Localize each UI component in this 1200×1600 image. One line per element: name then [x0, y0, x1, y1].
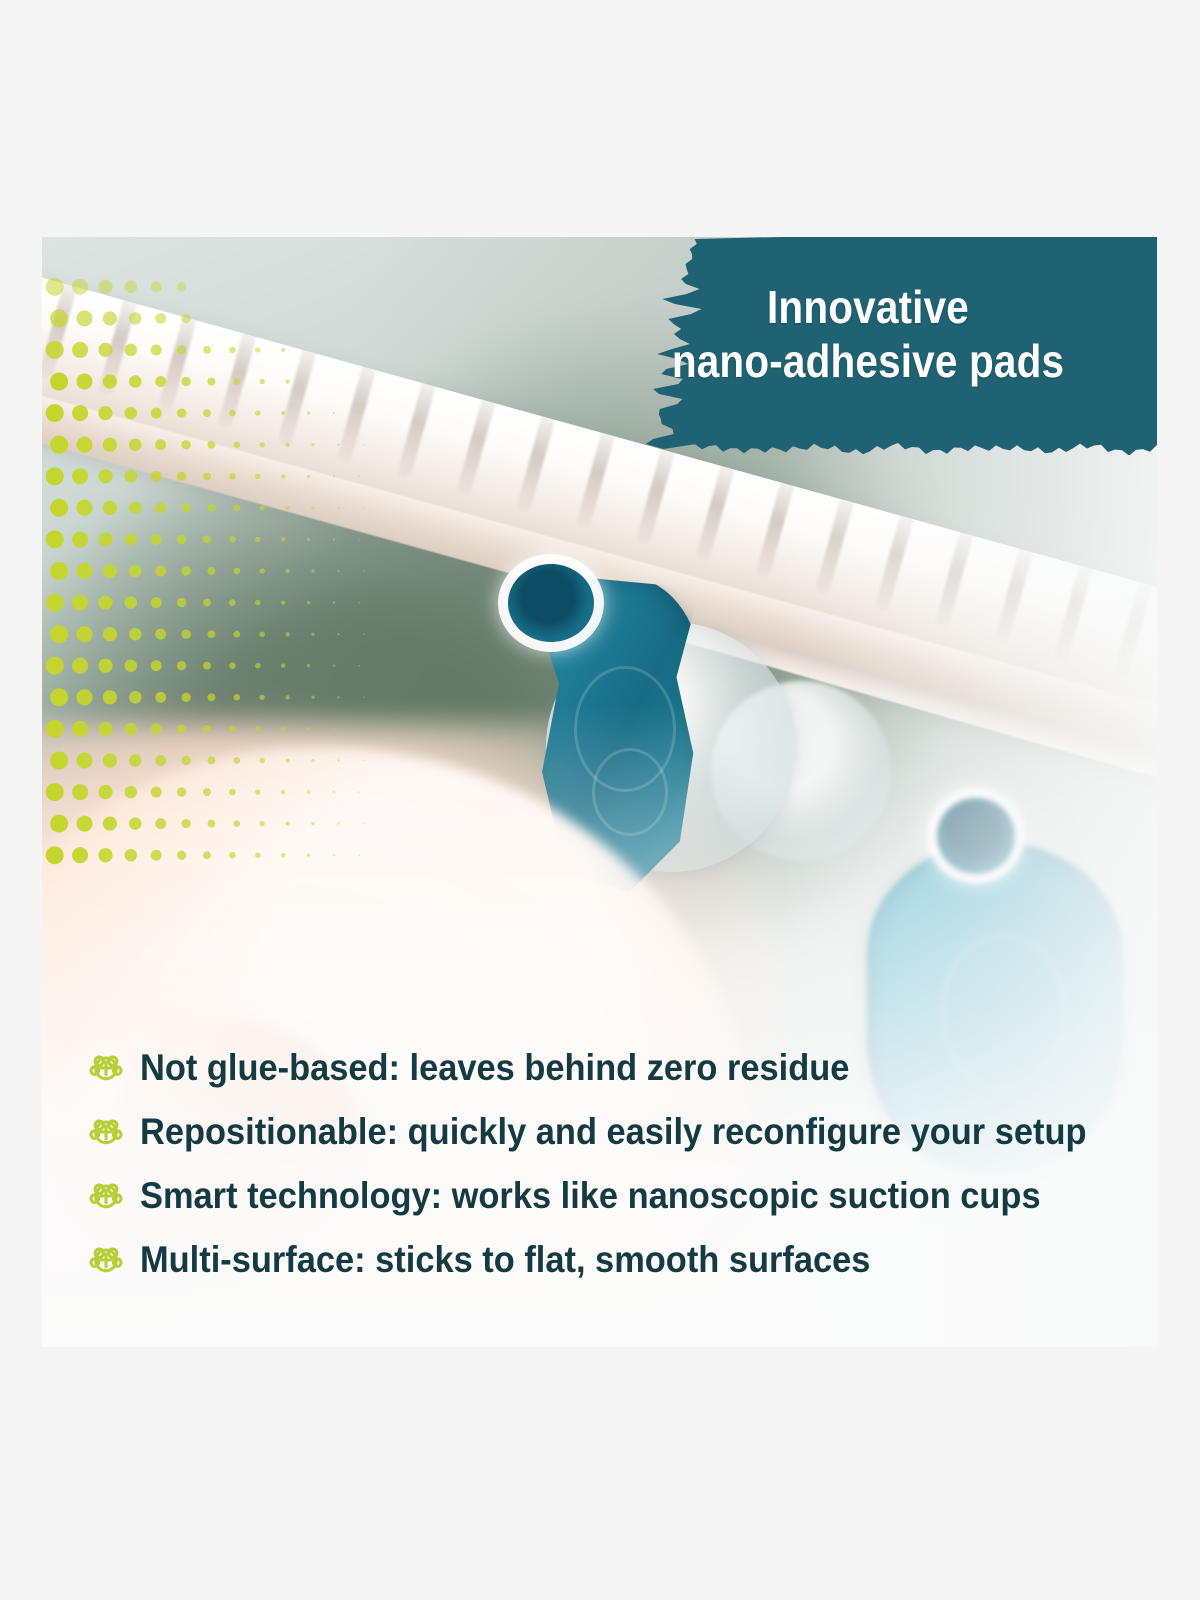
product-feature-image: Innovative nano-adhesive pads Not glue-b… [0, 0, 1200, 1600]
rail-notch [98, 293, 139, 397]
rail-notch [42, 276, 79, 380]
feature-bullet: Smart technology: works like nanoscopic … [88, 1163, 1108, 1227]
rail-notch [337, 359, 378, 463]
headline-banner: Innovative nano-adhesive pads [597, 237, 1157, 455]
rail-notch [456, 392, 497, 496]
rail-notch [516, 409, 557, 513]
headline-line-2: nano-adhesive pads [630, 335, 1107, 389]
headline: Innovative nano-adhesive pads [630, 281, 1107, 389]
feature-bullet-text: Repositionable: quickly and easily recon… [140, 1113, 1087, 1150]
headline-line-1: Innovative [630, 281, 1107, 335]
feature-bullet-list: Not glue-based: leaves behind zero resid… [88, 1035, 1108, 1291]
feature-bullet-text: Not glue-based: leaves behind zero resid… [140, 1049, 849, 1086]
paw-suction-icon [88, 1049, 124, 1085]
rail-notch [158, 309, 199, 413]
paw-suction-icon [88, 1241, 124, 1277]
rail-notch [695, 458, 736, 562]
rail-notch [277, 342, 318, 446]
paw-suction-icon [88, 1113, 124, 1149]
paw-suction-icon [88, 1177, 124, 1213]
mount-socket [508, 564, 594, 642]
feature-bullet-text: Multi-surface: sticks to flat, smooth su… [140, 1241, 870, 1278]
feature-bullet: Repositionable: quickly and easily recon… [88, 1099, 1108, 1163]
feature-bullet-text: Smart technology: works like nanoscopic … [140, 1177, 1041, 1214]
feature-bullet: Multi-surface: sticks to flat, smooth su… [88, 1227, 1108, 1291]
feature-bullet: Not glue-based: leaves behind zero resid… [88, 1035, 1108, 1099]
rail-notch [217, 326, 258, 430]
rail-notch [397, 375, 438, 479]
rail-notch [636, 442, 677, 546]
